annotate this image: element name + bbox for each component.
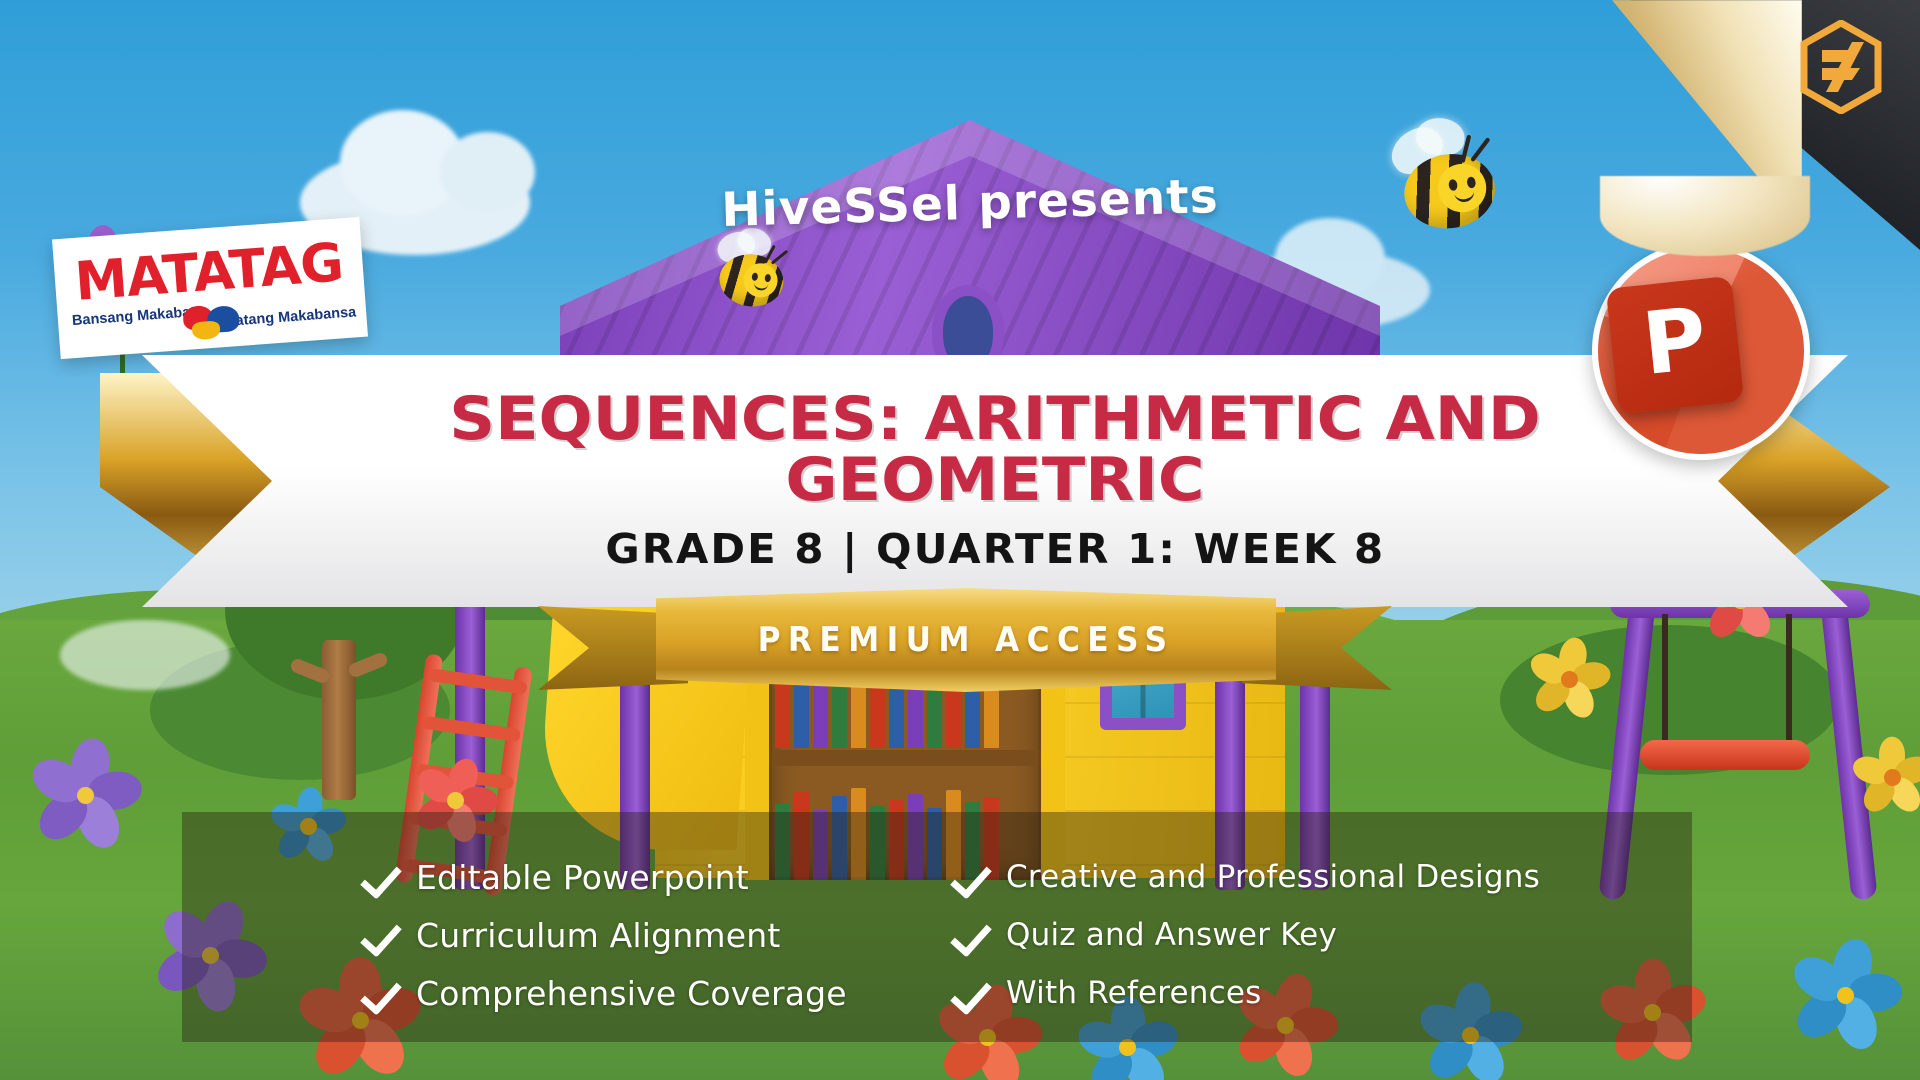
tree-icon <box>322 640 356 800</box>
features-left-column: Editable Powerpoint Curriculum Alignment… <box>182 828 882 1042</box>
feature-label: Quiz and Answer Key <box>1006 917 1337 953</box>
matatag-tagline-right: Batang Makabansa <box>225 304 357 330</box>
feature-item: Comprehensive Coverage <box>362 973 882 1013</box>
feature-item: Editable Powerpoint <box>362 857 882 897</box>
hivessel-hex-logo-icon <box>1798 20 1884 114</box>
check-icon <box>362 915 402 955</box>
promotional-poster: MATATAG Bansang Makabata Batang Makabans… <box>0 0 1920 1080</box>
check-icon <box>952 857 992 897</box>
powerpoint-letter: P <box>1639 296 1711 388</box>
feature-label: Creative and Professional Designs <box>1006 859 1540 895</box>
feature-label: Comprehensive Coverage <box>416 974 847 1013</box>
powerpoint-icon: P <box>1606 276 1744 414</box>
bee-icon <box>697 235 800 315</box>
check-icon <box>362 857 402 897</box>
flower-decoration <box>30 740 140 850</box>
page-subtitle: GRADE 8 | QUARTER 1: WEEK 8 <box>605 525 1385 573</box>
cloud-decoration <box>60 620 230 690</box>
check-icon <box>952 915 992 955</box>
flower-decoration <box>1530 640 1608 718</box>
feature-item: Curriculum Alignment <box>362 915 882 955</box>
feature-label: With References <box>1006 975 1262 1011</box>
check-icon <box>952 973 992 1013</box>
premium-access-ribbon: PREMIUM ACCESS <box>620 588 1310 708</box>
page-curl-highlight <box>1600 176 1810 256</box>
feature-item: Quiz and Answer Key <box>952 915 1692 955</box>
flower-decoration <box>1790 940 1900 1050</box>
flower-decoration <box>1855 740 1920 814</box>
matatag-logo-badge: MATATAG Bansang Makabata Batang Makabans… <box>52 217 368 359</box>
feature-item: With References <box>952 973 1692 1013</box>
check-icon <box>362 973 402 1013</box>
powerpoint-badge: P <box>1592 242 1810 460</box>
feature-label: Editable Powerpoint <box>416 858 749 897</box>
feature-label: Curriculum Alignment <box>416 916 781 955</box>
features-right-column: Creative and Professional Designs Quiz a… <box>882 828 1692 1042</box>
helping-hands-icon <box>180 302 244 340</box>
page-title: SEQUENCES: ARITHMETIC AND GEOMETRIC <box>274 389 1716 511</box>
ribbon-label: PREMIUM ACCESS <box>681 588 1251 692</box>
features-panel: Editable Powerpoint Curriculum Alignment… <box>182 812 1692 1042</box>
feature-item: Creative and Professional Designs <box>952 857 1692 897</box>
bee-icon <box>1369 126 1518 243</box>
